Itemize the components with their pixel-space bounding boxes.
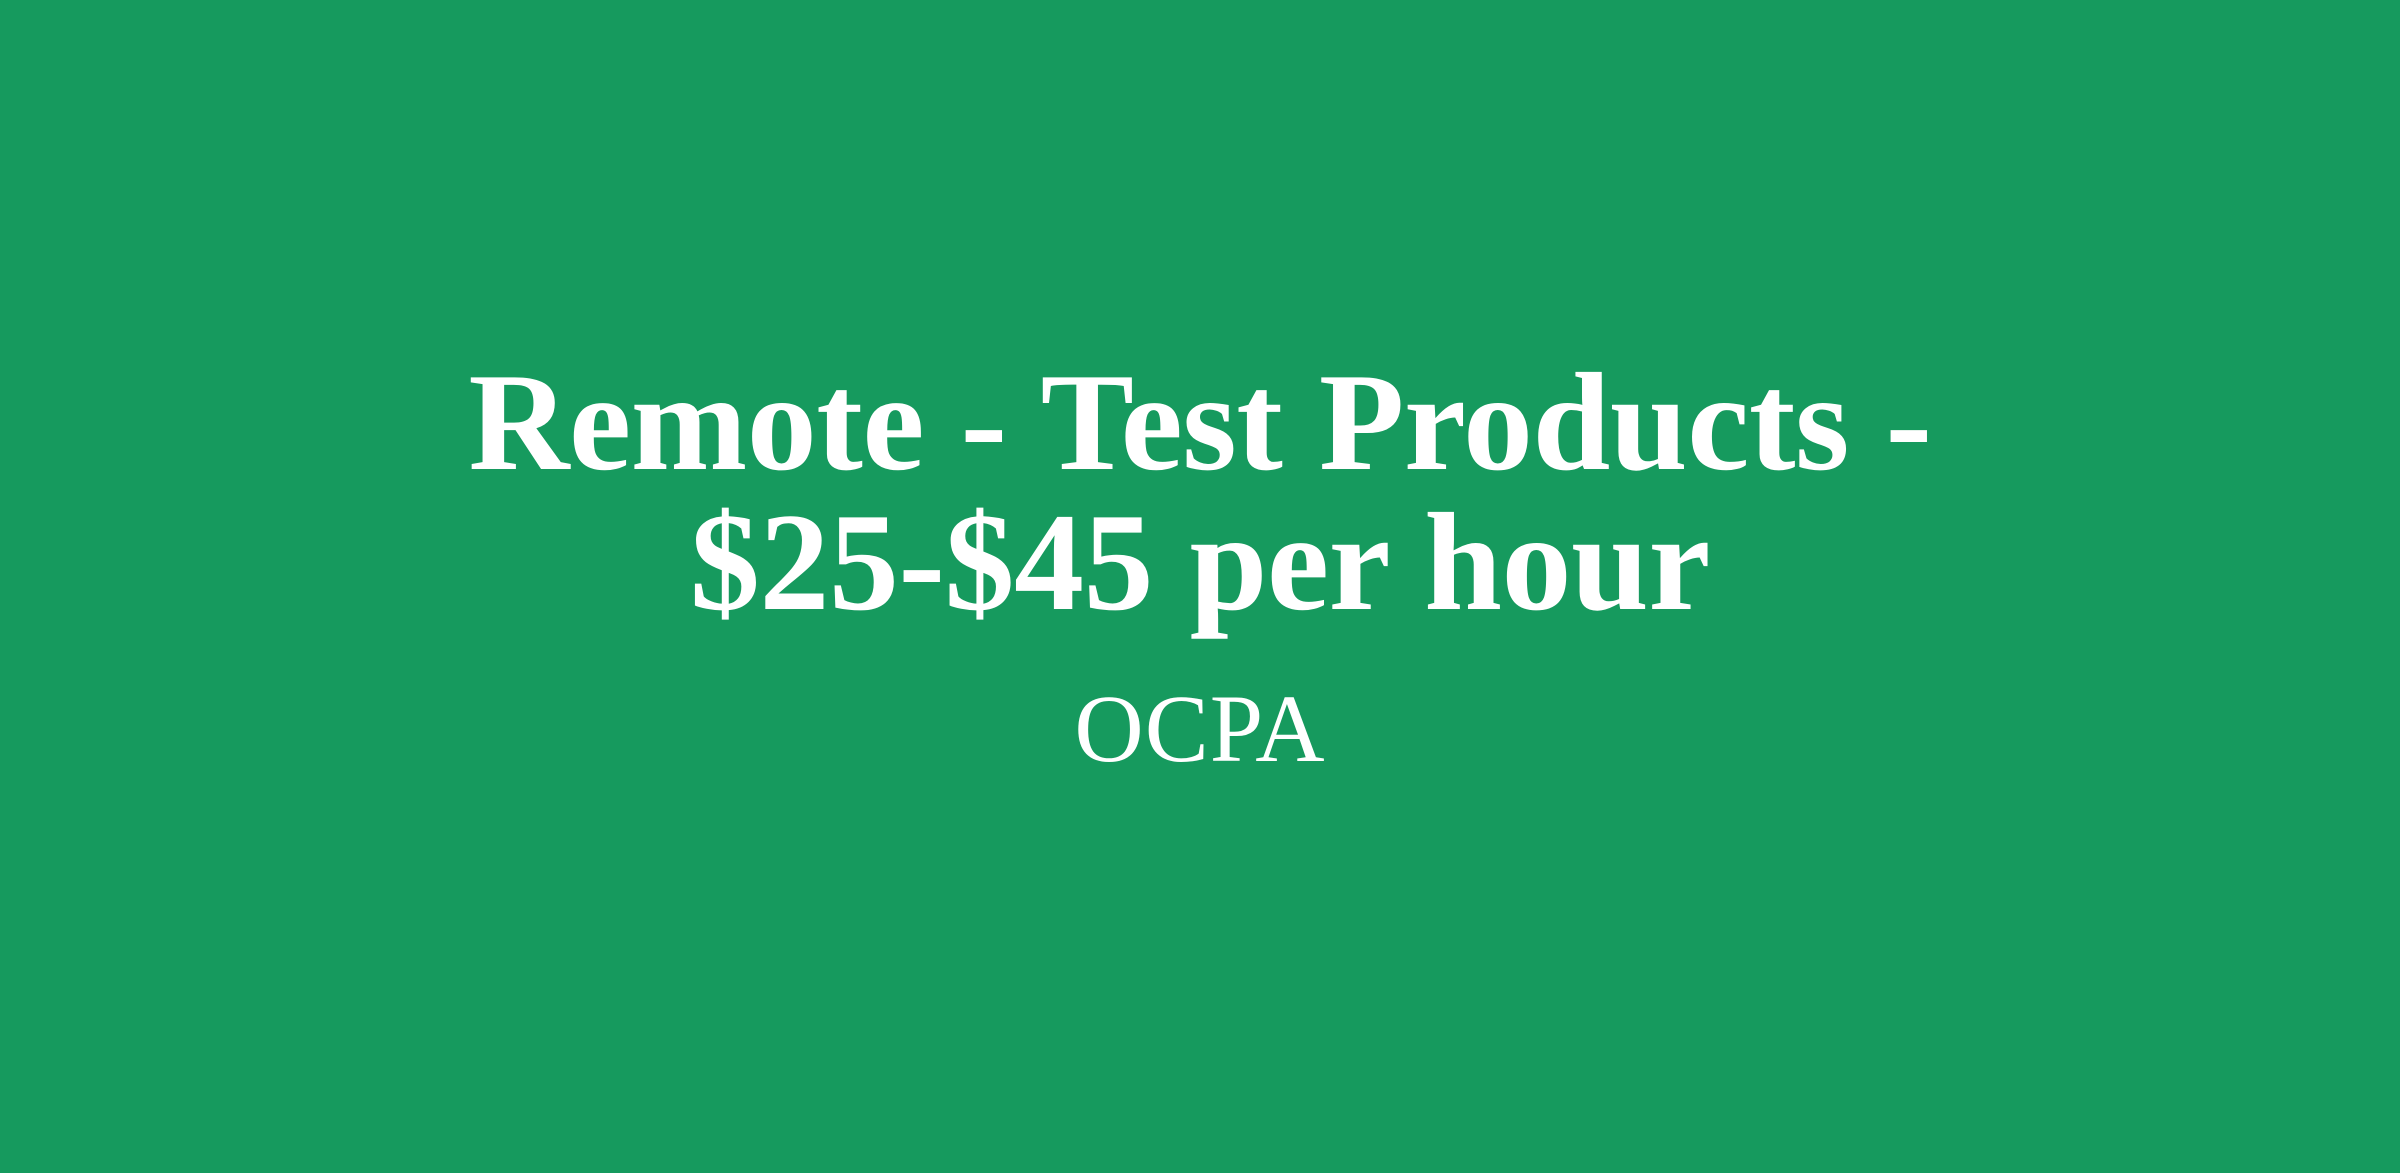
page-title: Remote - Test Products - $25-$45 per hou… bbox=[468, 353, 1931, 633]
card-content: Remote - Test Products - $25-$45 per hou… bbox=[380, 353, 2020, 777]
promo-card: Remote - Test Products - $25-$45 per hou… bbox=[0, 0, 2400, 1173]
headline-line-1: Remote - Test Products - bbox=[468, 353, 1931, 493]
headline-line-2: $25-$45 per hour bbox=[468, 493, 1931, 633]
subtitle-organization: OCPA bbox=[1074, 681, 1325, 777]
